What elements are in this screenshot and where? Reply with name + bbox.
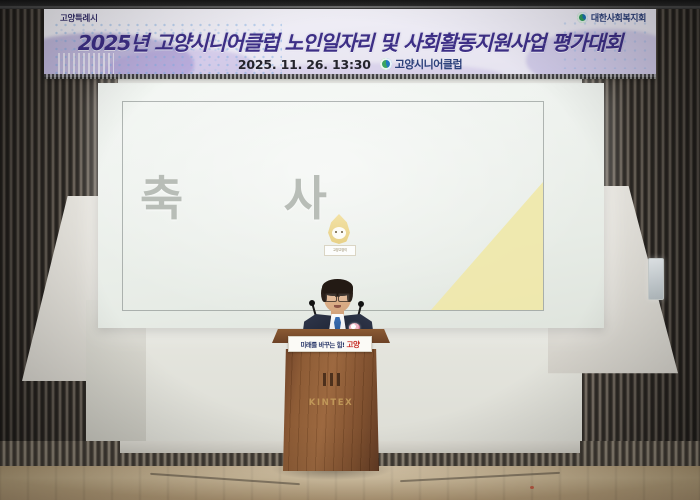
podium-city-text: 고양: [347, 339, 360, 350]
mascot-eye-right: [341, 231, 343, 233]
sponsor-org-logo: 대한사회복지회: [577, 11, 646, 24]
city-tag: 고양특례시: [60, 12, 98, 24]
podium-slogan-text: 미래를 바꾸는 힘!: [300, 340, 344, 349]
kintex-bar-2: [330, 373, 333, 386]
eyeglasses-icon: [325, 293, 350, 300]
wall-light-panel: [648, 258, 664, 300]
kintex-bars-icon: [302, 373, 360, 386]
mascot-body: [328, 214, 350, 244]
mascot-face: [332, 227, 346, 239]
mascot-character: 고양고양이: [324, 214, 354, 256]
sponsor-org-label: 대한사회복지회: [591, 11, 646, 24]
host-org-logo: 고양시니어클럽: [380, 56, 462, 72]
podium-slogan-sign: 미래를 바꾸는 힘! 고양: [288, 336, 372, 352]
mascot-eye-left: [335, 231, 337, 233]
ceiling-rail: [0, 6, 700, 8]
event-banner: 고양특례시 대한사회복지회 2025년 고양시니어클럽 노인일자리 및 사회활동…: [44, 9, 656, 77]
slide-accent-triangle: [431, 182, 543, 310]
speaker-mouth: [334, 305, 341, 308]
kintex-bar-3: [337, 373, 340, 386]
glasses-lens-left: [325, 293, 337, 302]
kintex-bar-1: [323, 373, 326, 386]
host-circle-icon: [380, 58, 392, 70]
banner-bottom-strip: [44, 74, 656, 79]
mascot-label: 고양고양이: [324, 245, 356, 256]
event-photo-scene: 축 사 고양고양이 고양특례시 대한사회복지회 2025년 고양시니어클럽 노인…: [0, 0, 700, 500]
host-org-label: 고양시니어클럽: [395, 56, 462, 72]
event-datetime: 2025. 11. 26. 13:30: [238, 57, 371, 72]
kintex-logo: KINTEX: [302, 373, 360, 409]
kintex-wordmark: KINTEX: [309, 398, 354, 408]
podium-wood-grain: [283, 349, 379, 471]
banner-title: 2025년 고양시니어클럽 노인일자리 및 사회활동지원사업 평가대회: [44, 26, 656, 56]
banner-subline: 2025. 11. 26. 13:30 고양시니어클럽: [44, 56, 656, 72]
speaker-figure: [296, 281, 378, 337]
glasses-lens-right: [338, 293, 350, 302]
sponsor-circle-icon: [577, 12, 588, 23]
microphone-head-right: [358, 301, 364, 307]
microphone-head-left: [309, 300, 315, 306]
floor-marker: [530, 486, 534, 489]
